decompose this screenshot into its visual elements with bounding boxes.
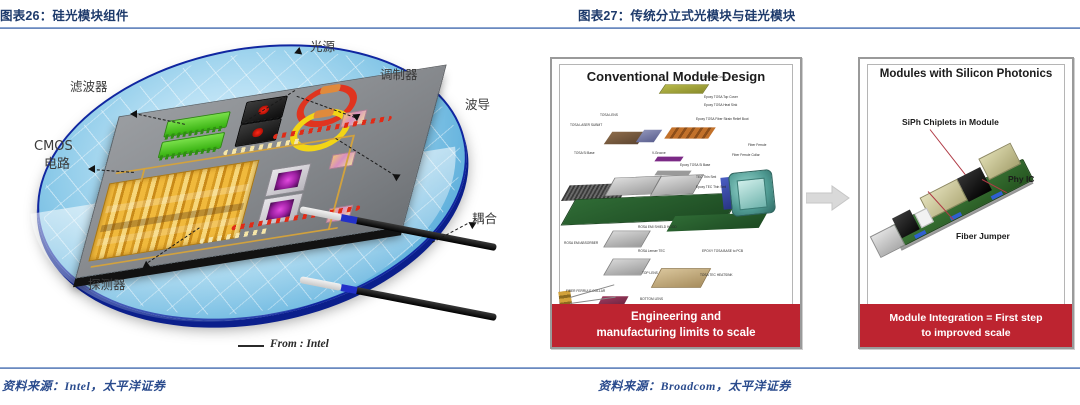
conventional-module-title: Conventional Module Design: [552, 69, 800, 84]
right-source-note: 资料来源：Broadcom，太平洋证券: [598, 377, 791, 394]
part-label-0: TOSA Top Cover: [702, 75, 726, 79]
conventional-banner: Engineering and manufacturing limits to …: [552, 304, 800, 347]
part-label-17: BOTTOM LENS: [640, 297, 663, 301]
modulator-cell-2: [329, 151, 357, 169]
part-label-20: TOSA TEC HEATSINK: [700, 273, 733, 277]
part-label-21: FIBER FERRULE COLLAR: [566, 289, 605, 293]
diagram-credit: From : Intel: [270, 338, 329, 350]
right-figure-title: 图表27：传统分立式光模块与硅光模块: [578, 5, 796, 24]
left-source-note: 资料来源：Intel，太平洋证券: [2, 377, 165, 394]
part-label-2: Epoxy TOSA Heat Sink: [704, 103, 737, 107]
callout-cmos-line2: 电路: [44, 158, 70, 173]
report-figure-page: 图表26：硅光模块组件: [0, 0, 1080, 405]
part-label-6: TOSA Si Base: [574, 151, 595, 155]
part-label-4: TOSA LENS: [600, 113, 618, 117]
callout-detector: 探测器: [88, 278, 126, 292]
right-top-divider: [540, 27, 1080, 29]
arrowhead-cmos: [88, 165, 95, 173]
part-label-16: TOP LENS: [642, 271, 658, 275]
siph-banner-line2: to improved scale: [921, 327, 1010, 339]
part-label-3: Epoxy TOSA Fiber Strain Relief Boot: [696, 117, 753, 121]
right-bottom-divider: [540, 367, 1080, 369]
part-label-13: ROSA EMI SHIELD HOOD: [638, 225, 677, 229]
tosa-tec-heatsink: [651, 268, 711, 288]
callout-light-source: 光源: [310, 40, 335, 54]
right-arrow-icon: [806, 185, 850, 211]
label-fiber-jumper: Fiber Jumper: [956, 231, 1010, 241]
conventional-module-box: Conventional Module Design: [550, 57, 802, 349]
tosa-top-cover: [659, 84, 709, 94]
part-label-19: EPOXY TOSA BASE to PCB: [702, 249, 743, 253]
callout-cmos-line1: CMOS: [34, 140, 73, 155]
rosa-housing: [728, 169, 776, 217]
part-label-12: Fiber Ferrule Collar: [732, 153, 760, 157]
callout-modulator: 调制器: [380, 68, 418, 82]
part-label-14: ROSA EMI ABSORBER: [564, 241, 598, 245]
part-label-8: Epoxy TOSA Si Base: [680, 163, 710, 167]
photodetector-1: [265, 163, 312, 197]
siph-banner-line1: Module Integration = First step: [889, 312, 1042, 324]
label-phy-ic: Phy IC: [1008, 174, 1034, 184]
left-bottom-divider: [0, 367, 540, 369]
credit-rule: [238, 345, 264, 347]
label-siph-chiplets: SiPh Chiplets in Module: [902, 117, 999, 127]
left-top-divider: [0, 27, 540, 29]
part-label-15: ROSA Lenser TEC: [638, 249, 665, 253]
conventional-banner-line1: Engineering and: [631, 311, 721, 323]
silicon-photonics-module-box: Modules with Silicon Photonics SiPh Chip…: [858, 57, 1074, 349]
tec-thin-smt-1: [654, 157, 683, 162]
siph-banner: Module Integration = First step to impro…: [860, 304, 1072, 347]
part-label-11: Fiber Ferrule: [748, 143, 766, 147]
silicon-photonics-wafer-illustration: 滤波器 CMOS 电路 光源 调制器 波导 耦合 探测器: [0, 30, 540, 365]
siph-module-title: Modules with Silicon Photonics: [860, 68, 1072, 80]
part-label-7: V-Groove: [652, 151, 666, 155]
conventional-banner-line2: manufacturing limits to scale: [596, 327, 755, 339]
callout-waveguide: 波导: [465, 98, 490, 112]
part-label-10: Epoxy TEC Thin Smt: [696, 185, 726, 189]
part-label-1: Epoxy TOSA Top Cover: [704, 95, 738, 99]
left-figure-title: 图表26：硅光模块组件: [0, 5, 129, 24]
right-figure-panel: 图表27：传统分立式光模块与硅光模块 Conventional Module D…: [540, 0, 1080, 405]
callout-coupler: 耦合: [472, 212, 497, 226]
part-label-5: TOSA LASER SUBMT: [570, 123, 602, 127]
fiber-ferrule-group: [664, 127, 716, 138]
cmos-circuit-block: [88, 160, 259, 262]
left-figure-panel: 图表26：硅光模块组件: [0, 0, 540, 405]
part-label-9: TEC Thin Smt: [696, 175, 716, 179]
arrowhead-filter: [130, 110, 137, 118]
callout-filter: 滤波器: [70, 80, 108, 94]
